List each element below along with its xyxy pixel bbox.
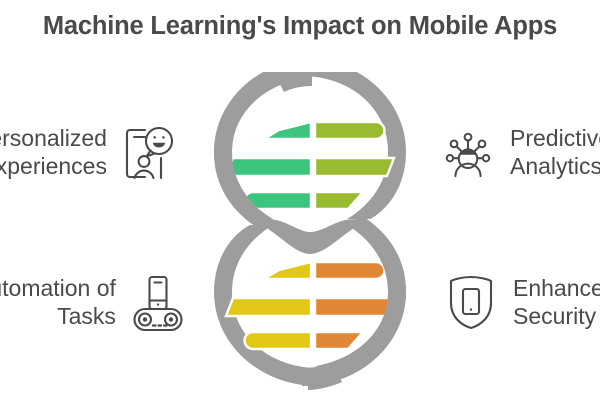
feature-label-line1: Enhanced xyxy=(513,274,600,302)
infographic-canvas: Machine Learning's Impact on Mobile Apps… xyxy=(0,0,600,412)
shield-phone-icon xyxy=(443,272,499,332)
feature-label-line1: Automation of xyxy=(0,274,116,302)
feature-automation-of-tasks[interactable]: Automation of Tasks xyxy=(0,272,186,332)
helix-rung-6 xyxy=(245,332,363,349)
feature-label-predictive-analytics: Predictive Analytics xyxy=(510,124,600,180)
feature-label-automation-of-tasks: Automation of Tasks xyxy=(0,274,116,330)
feature-label-line1: Predictive xyxy=(510,124,600,152)
feature-label-personalized-experiences: Personalized Experiences xyxy=(0,124,107,180)
helix-rung-2 xyxy=(226,158,394,176)
helix-rung-3 xyxy=(245,192,364,209)
feature-label-line2: Security xyxy=(513,302,600,330)
feature-label-line2: Analytics xyxy=(510,152,600,180)
helix-rung-4 xyxy=(264,262,385,279)
feature-predictive-analytics[interactable]: Predictive Analytics xyxy=(440,122,600,182)
head-network-nodes-icon xyxy=(440,122,496,182)
feature-label-line2: Experiences xyxy=(0,152,107,180)
helix-rung-5 xyxy=(226,298,394,316)
robot-phone-tracks-icon xyxy=(130,272,186,332)
feature-personalized-experiences[interactable]: Personalized Experiences xyxy=(0,122,177,182)
page-title: Machine Learning's Impact on Mobile Apps xyxy=(0,12,600,41)
feature-enhanced-security[interactable]: Enhanced Security xyxy=(443,272,600,332)
phone-person-chat-icon xyxy=(121,122,177,182)
dna-double-helix xyxy=(208,72,412,390)
feature-label-line1: Personalized xyxy=(0,124,107,152)
feature-label-enhanced-security: Enhanced Security xyxy=(513,274,600,330)
feature-label-line2: Tasks xyxy=(0,302,116,330)
